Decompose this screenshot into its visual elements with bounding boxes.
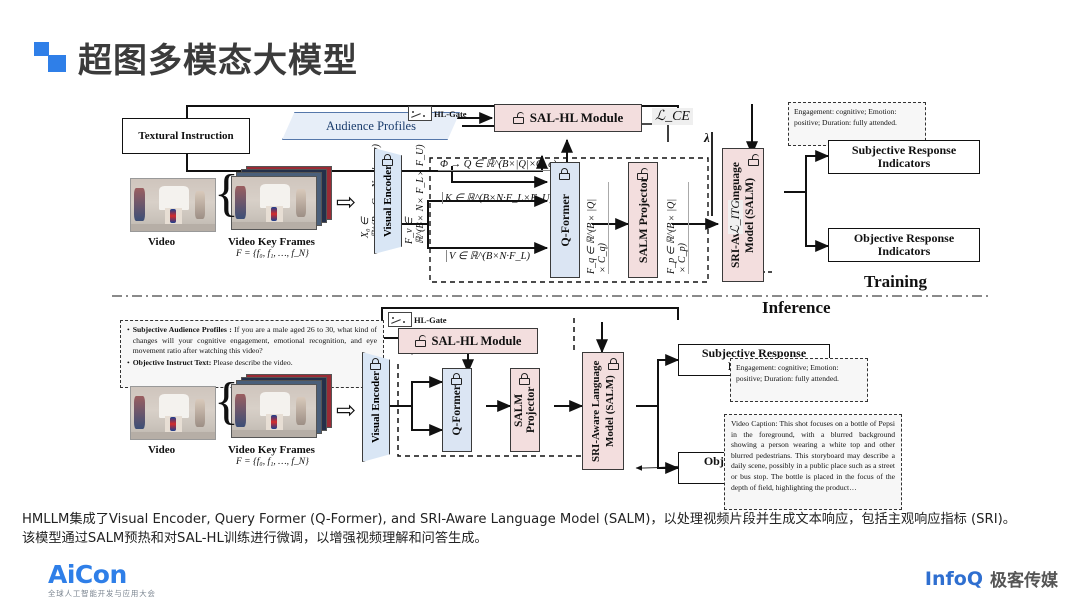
aicon-wordmark: AiCon: [48, 562, 156, 587]
bullet-icon-objective: •: [127, 358, 130, 369]
fq-formula: F_q ∈ ℝ^(B×|Q|×C_q): [586, 182, 609, 274]
objective-response-training: Objective Response Indicators: [828, 228, 980, 262]
arrow-to-encoder-inference: ⇨: [336, 396, 356, 425]
k-formula: K ∈ ℝ^(B×N·F_L×F_U): [442, 192, 555, 204]
key-frames-formula-inference: F = {f₀, f₁, …, f_N}: [236, 457, 309, 467]
hl-gate-label-inference: HL-Gate: [414, 315, 447, 325]
video-label-training: Video: [148, 236, 175, 248]
sal-hl-module-training: SAL-HL Module: [494, 104, 642, 132]
video-thumbnail-training: [130, 178, 216, 232]
page-title: 超图多模态大模型: [78, 33, 358, 82]
lock-icon-salm-inference: [608, 358, 619, 370]
hl-gate-label-training: HL-Gate: [434, 109, 467, 119]
brace-inference: {: [214, 376, 239, 428]
sri-annotation-inference: Engagement: cognitive; Emotion: positive…: [730, 358, 868, 402]
aicon-logo: AiCon 全球人工智能开发与应用大会: [48, 562, 156, 599]
aicon-subtitle: 全球人工智能开发与应用大会: [48, 588, 156, 599]
video-key-frames-training: [228, 166, 332, 232]
brand-logo-mark: [34, 42, 68, 72]
training-section-label: Training: [864, 272, 927, 292]
caption-line-1: HMLLM集成了Visual Encoder, Query Former (Q-…: [22, 510, 1062, 529]
lock-icon-salm-training: [748, 154, 759, 166]
v-formula: V ∈ ℝ^(B×N·F_L): [446, 250, 532, 262]
sal-hl-module-inference: SAL-HL Module: [398, 328, 538, 354]
subjective-response-training: Subjective Response Indicators: [828, 140, 980, 174]
fv-formula: F_v ∈ ℝ^(B×N×F_L×F_U): [404, 152, 426, 244]
infoq-logo: InfoQ 极客传媒: [925, 566, 1058, 591]
q-formula: Φ → Q ∈ ℝ^(B×|Q|×C_e): [438, 158, 558, 171]
key-frames-label-inference: Video Key Frames: [228, 444, 315, 456]
loss-itg-label: ℒ_ITG: [728, 200, 743, 234]
fp-formula: F_p ∈ ℝ^(B×|Q|×C_p): [666, 182, 689, 274]
brace-training: {: [214, 168, 239, 220]
lock-icon-sal-hl-training: [513, 112, 524, 124]
loss-ce-label: ℒ_CE: [652, 108, 693, 125]
textural-instruction-box: Textural Instruction: [122, 118, 250, 154]
key-frames-formula-training: F = {f₀, f₁, …, f_N}: [236, 249, 309, 259]
lock-icon-q-former-inference: [451, 373, 462, 385]
arrow-to-encoder-training: ⇨: [336, 188, 356, 217]
lock-icon-salm-projector-training: [637, 168, 648, 180]
lock-icon-sal-hl-inference: [415, 335, 426, 347]
lock-icon-visual-encoder-inference: [370, 358, 381, 370]
video-caption-box: Video Caption: This shot focuses on a bo…: [724, 414, 902, 510]
caption-line-2: 该模型通过SALM预热和对SAL-HL训练进行微调，以增强视频理解和问答生成。: [22, 529, 1062, 548]
hl-gate-switch-icon-inference: [388, 312, 412, 327]
infoq-wordmark: InfoQ: [925, 568, 983, 590]
hl-gate-switch-icon-training: [408, 106, 432, 121]
bullet-icon-subjective: •: [127, 325, 130, 357]
prompt-subjective-label: Subjective Audience Profiles :: [133, 325, 232, 334]
prompt-objective-text: Please describe the video.: [213, 358, 292, 367]
video-label-inference: Video: [148, 444, 175, 456]
slide-caption: HMLLM集成了Visual Encoder, Query Former (Q-…: [22, 510, 1062, 548]
lambda-label: λ: [704, 130, 710, 146]
architecture-figure: Textural Instruction Audience Profiles V…: [112, 96, 992, 506]
key-frames-label-training: Video Key Frames: [228, 236, 315, 248]
video-thumbnail-inference: [130, 386, 216, 440]
infoq-partner-name: 极客传媒: [990, 566, 1058, 591]
lock-icon-salm-projector-inference: [519, 373, 530, 385]
video-key-frames-inference: [228, 374, 332, 440]
prompt-objective-label: Objective Instruct Text:: [133, 358, 212, 367]
lock-icon-visual-encoder-training: [382, 154, 393, 166]
inference-section-label: Inference: [762, 298, 831, 318]
lock-icon-q-former-training: [559, 168, 570, 180]
